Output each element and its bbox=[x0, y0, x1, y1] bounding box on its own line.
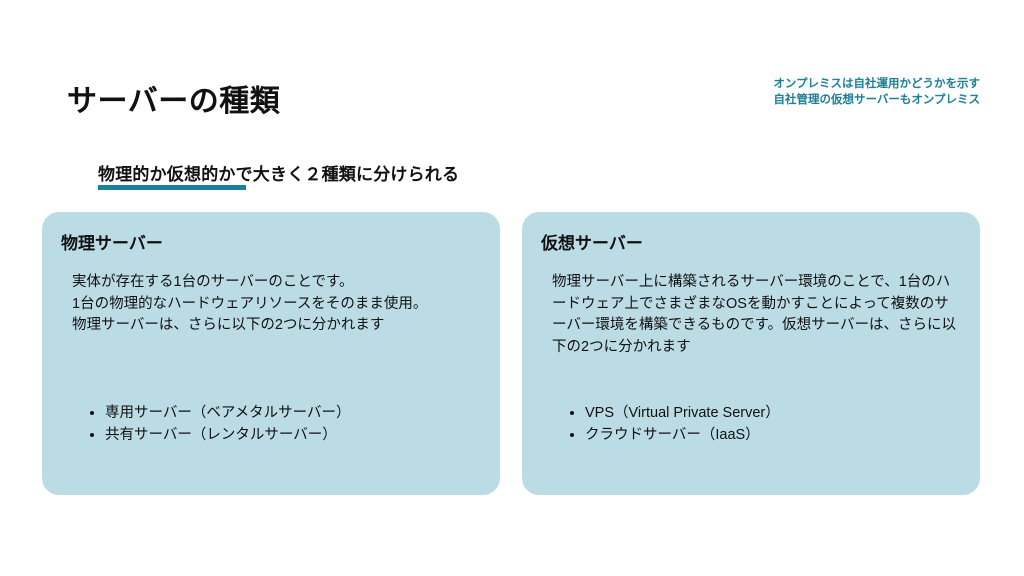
list-item: クラウドサーバー（IaaS） bbox=[568, 424, 780, 446]
body-paragraph: 物理サーバー上に構築されるサーバー環境のことで、1台のハードウェア上でさまざまな… bbox=[552, 272, 960, 358]
body-line: 実体が存在する1台のサーバーのことです。 bbox=[72, 272, 484, 294]
subtitle-block: 物理的か仮想的かで大きく２種類に分けられる bbox=[98, 160, 459, 185]
body-line: 1台の物理的なハードウェアリソースをそのまま使用。 bbox=[72, 294, 484, 316]
card-physical-server-heading: 物理サーバー bbox=[61, 229, 163, 254]
body-line: 物理サーバーは、さらに以下の2つに分かれます bbox=[72, 315, 484, 337]
list-item: 共有サーバー（レンタルサーバー） bbox=[88, 424, 350, 446]
list-item: 専用サーバー（ベアメタルサーバー） bbox=[88, 402, 350, 424]
card-virtual-server-heading: 仮想サーバー bbox=[541, 229, 643, 254]
card-physical-server-body: 実体が存在する1台のサーバーのことです。 1台の物理的なハードウェアリソースをそ… bbox=[72, 272, 484, 337]
card-virtual-server-body: 物理サーバー上に構築されるサーバー環境のことで、1台のハードウェア上でさまざまな… bbox=[552, 272, 960, 358]
annotation-line-2: 自社管理の仮想サーバーもオンプレミス bbox=[773, 92, 980, 108]
card-virtual-server-list: VPS（Virtual Private Server） クラウドサーバー（Iaa… bbox=[568, 402, 780, 446]
slide-canvas: サーバーの種類 オンプレミスは自社運用かどうかを示す 自社管理の仮想サーバーもオ… bbox=[0, 0, 1024, 576]
card-physical-server-list: 専用サーバー（ベアメタルサーバー） 共有サーバー（レンタルサーバー） bbox=[88, 402, 350, 446]
card-virtual-server: 仮想サーバー 物理サーバー上に構築されるサーバー環境のことで、1台のハードウェア… bbox=[522, 212, 980, 495]
list-item: VPS（Virtual Private Server） bbox=[568, 402, 780, 424]
card-physical-server: 物理サーバー 実体が存在する1台のサーバーのことです。 1台の物理的なハードウェ… bbox=[42, 212, 500, 495]
subtitle-underline-accent bbox=[98, 185, 246, 190]
subtitle-text: 物理的か仮想的かで大きく２種類に分けられる bbox=[98, 160, 459, 185]
page-title: サーバーの種類 bbox=[67, 76, 280, 120]
annotation-note: オンプレミスは自社運用かどうかを示す 自社管理の仮想サーバーもオンプレミス bbox=[773, 76, 980, 108]
annotation-line-1: オンプレミスは自社運用かどうかを示す bbox=[773, 76, 980, 92]
